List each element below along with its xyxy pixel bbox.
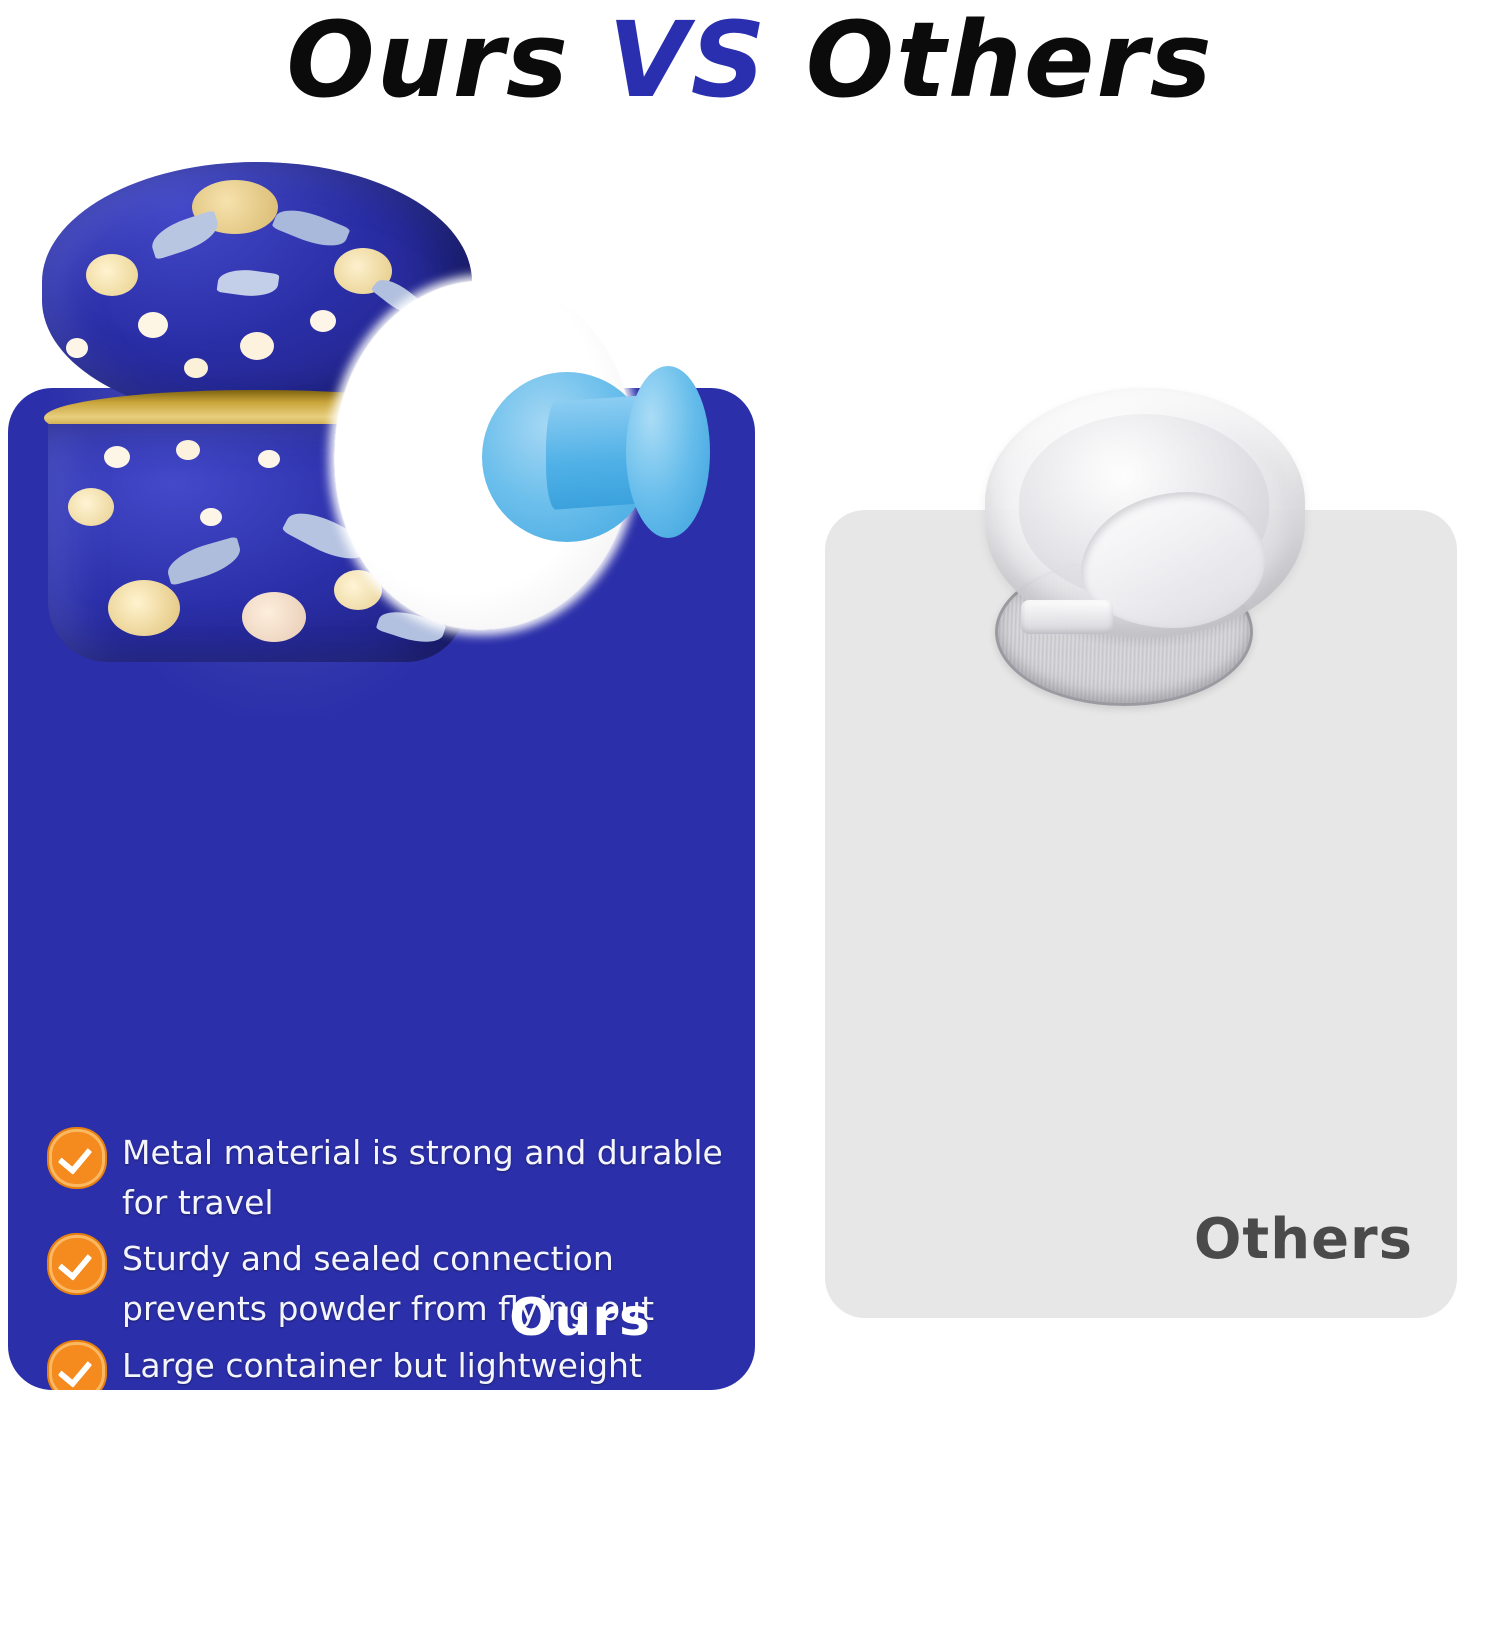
others-product-image [975, 388, 1325, 718]
check-badge-icon [52, 1238, 102, 1290]
ours-label: Ours [509, 1288, 651, 1348]
others-label: Others [1194, 1207, 1413, 1272]
check-badge-icon [52, 1132, 102, 1184]
title-ours-word: Ours [286, 0, 608, 121]
white-powder-puff-with-blue-handle [334, 280, 724, 640]
feature-text: Metal material is strong and durable for… [122, 1133, 723, 1222]
puff-handle-cap [626, 366, 710, 538]
list-item: Large container but lightweight design f… [52, 1341, 732, 1390]
list-item: Metal material is strong and durable for… [52, 1128, 732, 1228]
title-vs-word: VS [608, 0, 767, 121]
lid-tab [1021, 600, 1113, 634]
page-title: Ours VS Others [0, 4, 1500, 116]
check-badge-icon [52, 1345, 102, 1390]
ours-feature-list: Metal material is strong and durable for… [52, 1128, 732, 1390]
title-others-word: Others [768, 0, 1214, 121]
ours-product-image [16, 150, 736, 670]
feature-text: Large container but lightweight design f… [122, 1346, 642, 1390]
